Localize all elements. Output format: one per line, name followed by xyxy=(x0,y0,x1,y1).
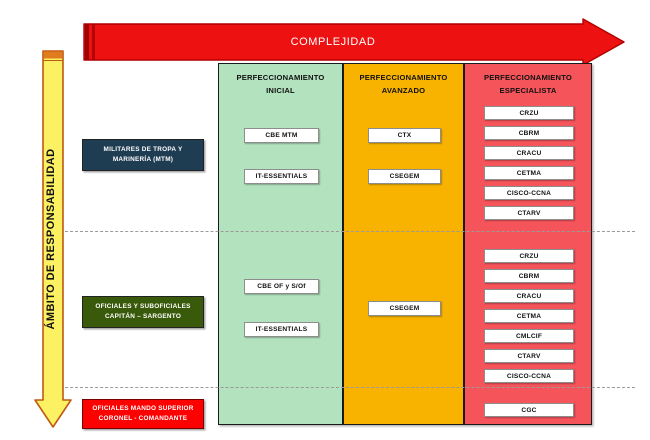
course-chip[interactable]: CMLCIF xyxy=(484,329,574,343)
course-chip[interactable]: CISCO-CCNA xyxy=(484,369,574,383)
column-title-line-1: PERFECCIONAMIENTO xyxy=(465,71,591,84)
course-chip[interactable]: CBRM xyxy=(484,269,574,283)
tier-divider-upper xyxy=(65,231,635,232)
course-chip[interactable]: IT-ESSENTIALS xyxy=(244,322,319,337)
tier-divider-lower xyxy=(65,387,635,388)
role-line-1: OFICIALES MANDO SUPERIOR xyxy=(92,404,193,414)
column-title-line-1: PERFECCIONAMIENTO xyxy=(344,71,463,84)
role-box-oficiales-suboficiales: OFICIALES Y SUBOFICIALES CAPITÁN – SARGE… xyxy=(82,296,204,328)
column-title: PERFECCIONAMIENTO ESPECIALISTA xyxy=(465,71,591,98)
course-chip[interactable]: CTX xyxy=(368,128,441,143)
complejidad-arrow xyxy=(83,18,625,66)
course-chip[interactable]: CETMA xyxy=(484,309,574,323)
role-line-2: CORONEL - COMANDANTE xyxy=(99,414,188,424)
column-title: PERFECCIONAMIENTO INICIAL xyxy=(219,71,342,98)
column-title-line-1: PERFECCIONAMIENTO xyxy=(219,71,342,84)
diagram-canvas: COMPLEJIDAD ÁMBITO DE RESPONSABILIDAD MI… xyxy=(0,0,650,440)
course-chip[interactable]: CRACU xyxy=(484,289,574,303)
course-chip[interactable]: CGC xyxy=(484,403,574,417)
role-line-1: OFICIALES Y SUBOFICIALES xyxy=(95,302,190,312)
course-chip[interactable]: IT-ESSENTIALS xyxy=(244,169,319,184)
column-perfeccionamiento-inicial: PERFECCIONAMIENTO INICIAL CBE MTM IT-ESS… xyxy=(218,63,343,425)
role-box-tropa-marineria: MILITARES DE TROPA Y MARINERÍA (MTM) xyxy=(82,139,204,171)
course-chip[interactable]: CTARV xyxy=(484,206,574,220)
column-title-line-2: ESPECIALISTA xyxy=(465,84,591,97)
course-chip[interactable]: CBRM xyxy=(484,126,574,140)
role-box-mando-superior: OFICIALES MANDO SUPERIOR CORONEL - COMAN… xyxy=(82,399,204,429)
role-line-2: CAPITÁN – SARGENTO xyxy=(105,312,181,322)
course-chip[interactable]: CETMA xyxy=(484,166,574,180)
role-line-1: MILITARES DE TROPA Y xyxy=(104,145,183,155)
column-title-line-2: AVANZADO xyxy=(344,84,463,97)
role-line-2: MARINERÍA (MTM) xyxy=(113,155,173,165)
course-chip[interactable]: CRZU xyxy=(484,249,574,263)
course-chip[interactable]: CBE OF y S/Of xyxy=(244,279,319,294)
column-perfeccionamiento-avanzado: PERFECCIONAMIENTO AVANZADO CTX CSEGEM CS… xyxy=(343,63,464,425)
column-perfeccionamiento-especialista: PERFECCIONAMIENTO ESPECIALISTA CRZU CBRM… xyxy=(464,63,592,425)
course-chip[interactable]: CSEGEM xyxy=(368,169,441,184)
course-chip[interactable]: CRACU xyxy=(484,146,574,160)
course-chip[interactable]: CTARV xyxy=(484,349,574,363)
course-chip[interactable]: CBE MTM xyxy=(244,128,319,143)
course-chip[interactable]: CISCO-CCNA xyxy=(484,186,574,200)
column-title: PERFECCIONAMIENTO AVANZADO xyxy=(344,71,463,98)
course-chip[interactable]: CSEGEM xyxy=(368,301,441,316)
course-chip[interactable]: CRZU xyxy=(484,106,574,120)
ambito-responsabilidad-arrow: ÁMBITO DE RESPONSABILIDAD xyxy=(34,50,72,428)
column-title-line-2: INICIAL xyxy=(219,84,342,97)
